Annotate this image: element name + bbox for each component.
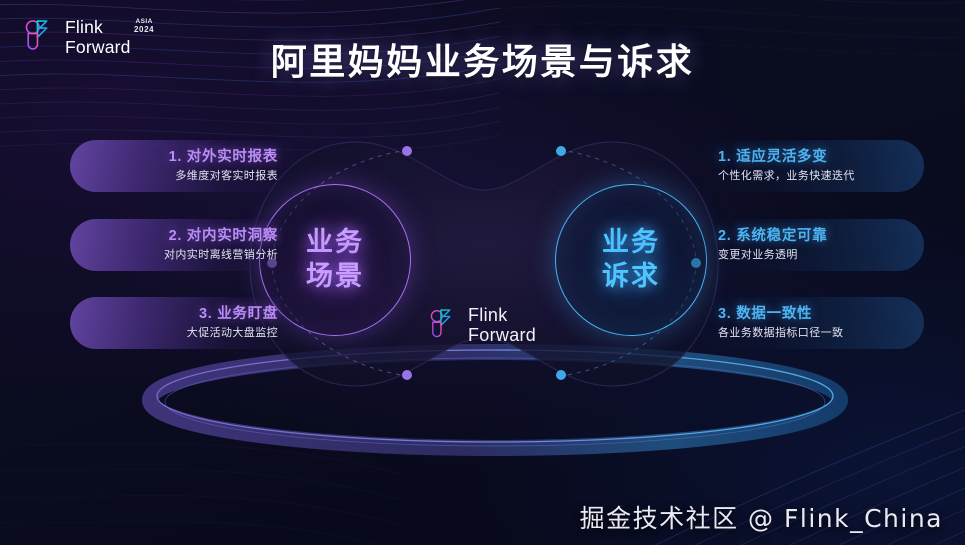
connector-dot	[556, 370, 566, 380]
demand-card-1-subtitle: 个性化需求，业务快速迭代	[718, 168, 855, 184]
flink-forward-logo-icon	[428, 308, 458, 342]
center-flink-forward-logo: Flink Forward	[428, 305, 536, 345]
demand-card-3-subtitle: 各业务数据指标口径一致	[718, 325, 843, 341]
page-title: 阿里妈妈业务场景与诉求	[0, 33, 965, 85]
business-demand-circle: 业务 诉求	[555, 184, 707, 336]
scenario-card-1-subtitle: 多维度对客实时报表	[175, 168, 278, 184]
scenario-card-2-title: 2. 对内实时洞察	[169, 227, 278, 246]
scenario-card-3-subtitle: 大促活动大盘监控	[187, 325, 278, 341]
header-logo-superscript: ASIA 2024	[134, 18, 154, 34]
header-logo-region: ASIA	[136, 18, 153, 25]
watermark-text: 掘金技术社区 @ Flink_China	[580, 499, 943, 535]
connector-dot	[556, 146, 566, 156]
business-demand-line2: 诉求	[602, 260, 660, 294]
scenario-card-1[interactable]: 1. 对外实时报表 多维度对客实时报表	[70, 140, 294, 192]
demand-card-2-title: 2. 系统稳定可靠	[718, 227, 827, 246]
connector-dot	[402, 370, 412, 380]
demand-card-1[interactable]: 1. 适应灵活多变 个性化需求，业务快速迭代	[700, 140, 924, 192]
slide-canvas: Flink Forward ASIA 2024 阿里妈妈业务场景与诉求	[0, 0, 965, 545]
business-demand-line1: 业务	[602, 226, 660, 260]
scenario-card-1-title: 1. 对外实时报表	[169, 148, 278, 167]
demand-card-3[interactable]: 3. 数据一致性 各业务数据指标口径一致	[700, 297, 924, 349]
business-scenario-line2: 场景	[306, 260, 364, 294]
business-scenario-line1: 业务	[306, 226, 364, 260]
demand-card-2-subtitle: 变更对业务透明	[718, 247, 798, 263]
connector-dot	[402, 146, 412, 156]
scenario-card-3[interactable]: 3. 业务盯盘 大促活动大盘监控	[70, 297, 294, 349]
center-logo-wordmark: Flink Forward	[468, 305, 536, 345]
center-logo-line2: Forward	[468, 325, 536, 345]
demand-card-2[interactable]: 2. 系统稳定可靠 变更对业务透明	[700, 219, 924, 271]
demand-card-3-title: 3. 数据一致性	[718, 305, 812, 324]
scenario-card-3-title: 3. 业务盯盘	[199, 305, 278, 324]
demand-card-1-title: 1. 适应灵活多变	[718, 148, 827, 167]
scenario-card-2-subtitle: 对内实时离线营销分析	[164, 247, 278, 263]
scenario-card-2[interactable]: 2. 对内实时洞察 对内实时离线营销分析	[70, 219, 294, 271]
center-logo-line1: Flink	[468, 305, 508, 325]
